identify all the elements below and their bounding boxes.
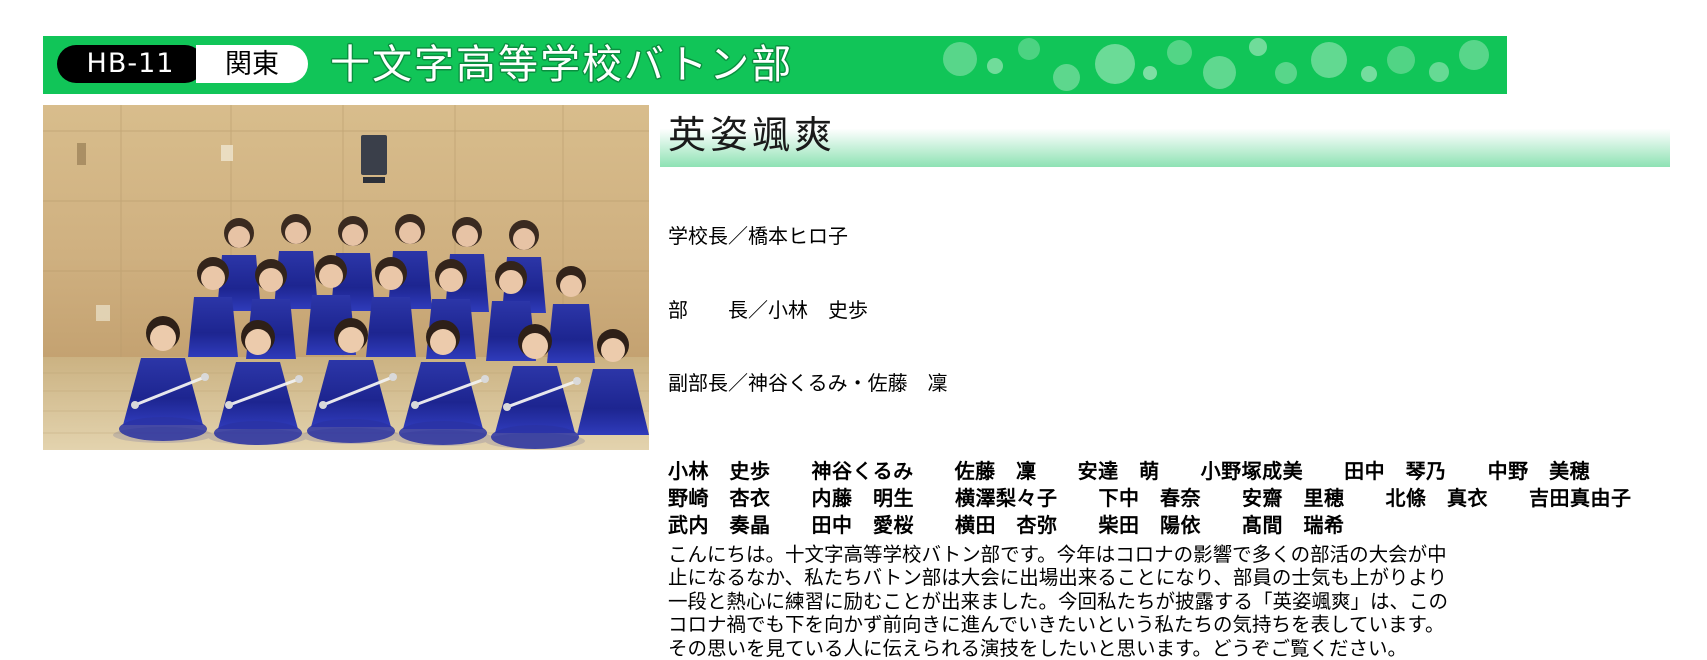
performance-title-bar: 英姿颯爽 bbox=[660, 105, 1670, 167]
info-panel: 英姿颯爽 学校長／橋本ヒロ子 部 長／小林 史歩 副部長／神谷くるみ・佐藤 凜 … bbox=[660, 105, 1670, 660]
performance-title: 英姿颯爽 bbox=[668, 107, 836, 163]
team-photo bbox=[43, 105, 649, 450]
staff-line-vice-leaders: 副部長／神谷くるみ・佐藤 凜 bbox=[668, 371, 1670, 396]
profile-card-page: HB-11 関東 十文字高等学校バトン部 bbox=[0, 0, 1707, 607]
staff-line-club-leader: 部 長／小林 史歩 bbox=[668, 298, 1670, 323]
description-line: 止になるなか、私たちバトン部は大会に出場出来ることになり、部員の士気も上がりより bbox=[668, 566, 1468, 590]
description-line: 一段と熱心に練習に励むことが出来ました。今回私たちが披露する「英姿颯爽」は、この bbox=[668, 590, 1468, 614]
staff-list: 学校長／橋本ヒロ子 部 長／小林 史歩 副部長／神谷くるみ・佐藤 凜 bbox=[660, 175, 1670, 445]
club-description: こんにちは。十文字高等学校バトン部です。今年はコロナの影響で多くの部活の大会が中… bbox=[660, 543, 1468, 660]
description-line: コロナ禍でも下を向かず前向きに進んでいきたいという私たちの気持ちを表しています。 bbox=[668, 613, 1468, 637]
member-name-list: 小林 史歩 神谷くるみ 佐藤 凜 安達 萌 小野塚成美 田中 琴乃 中野 美穂 … bbox=[660, 458, 1670, 539]
school-name-title: 十文字高等学校バトン部 bbox=[330, 42, 793, 88]
team-photo-image bbox=[43, 105, 649, 450]
member-row: 武内 奏晶 田中 愛桜 横田 杏弥 柴田 陽依 髙間 瑞希 bbox=[668, 512, 1670, 539]
staff-line-principal: 学校長／橋本ヒロ子 bbox=[668, 224, 1670, 249]
member-row: 小林 史歩 神谷くるみ 佐藤 凜 安達 萌 小野塚成美 田中 琴乃 中野 美穂 bbox=[668, 458, 1670, 485]
entry-code-badge: HB-11 bbox=[57, 45, 204, 83]
region-badge: 関東 bbox=[196, 45, 308, 83]
description-line: その思いを見ている人に伝えられる演技をしたいと思います。どうぞご覧ください。 bbox=[668, 637, 1468, 660]
description-line: こんにちは。十文字高等学校バトン部です。今年はコロナの影響で多くの部活の大会が中 bbox=[668, 543, 1468, 567]
member-row: 野崎 杏衣 内藤 明生 横澤梨々子 下中 春奈 安齋 里穂 北條 真衣 吉田真由… bbox=[668, 485, 1670, 512]
